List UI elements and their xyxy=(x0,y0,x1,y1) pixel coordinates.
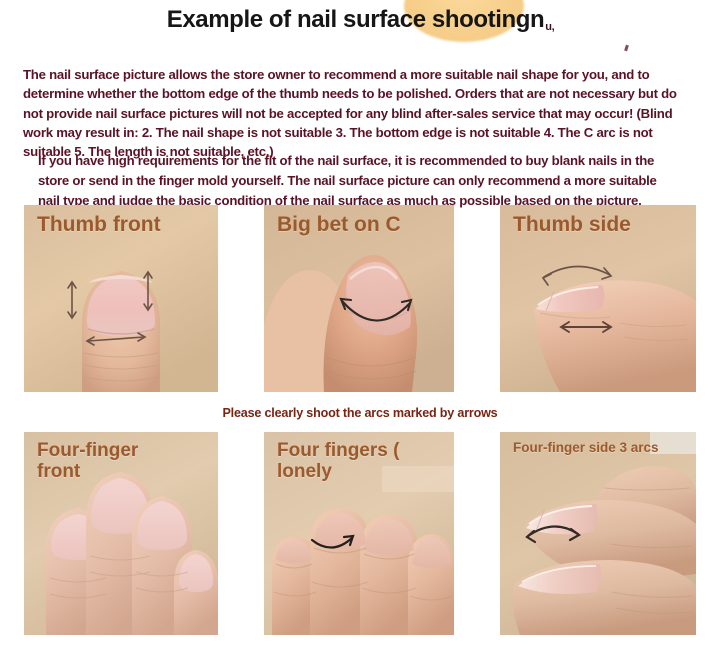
photo-label-big-bet-on-c: Big bet on C xyxy=(277,214,401,237)
page-header: Example of nail surface shootingnu, xyxy=(0,0,720,44)
photo-card-thumb-side[interactable]: Thumb side xyxy=(500,205,696,392)
four-finger-side-3-arcs-photo xyxy=(500,432,696,635)
stray-artifact-mark xyxy=(624,45,629,52)
photo-card-four-fingers-lonely[interactable]: Four fingers ( lonely xyxy=(264,432,454,635)
page-title-text: Example of nail surface shootingn xyxy=(167,6,545,33)
page-title-suffix: u, xyxy=(545,21,554,33)
photo-card-four-finger-front[interactable]: Four-finger front xyxy=(24,432,218,635)
four-finger-photo-row: Four-finger front xyxy=(24,432,696,635)
photo-card-big-bet-on-c[interactable]: Big bet on C xyxy=(264,205,454,392)
thumb-photo-row: Thumb front xyxy=(24,205,696,392)
mid-caption: Please clearly shoot the arcs marked by … xyxy=(0,406,720,420)
photo-label-thumb-front: Thumb front xyxy=(37,214,161,237)
intro-paragraph: The nail surface picture allows the stor… xyxy=(23,65,699,161)
photo-label-four-fingers-lonely: Four fingers ( lonely xyxy=(277,441,399,482)
photo-card-four-finger-side-3-arcs[interactable]: Four-finger side 3 arcs xyxy=(500,432,696,635)
photo-card-thumb-front[interactable]: Thumb front xyxy=(24,205,218,392)
photo-label-four-finger-front: Four-finger front xyxy=(37,441,138,482)
page-title: Example of nail surface shootingnu, xyxy=(0,6,720,34)
photo-label-thumb-side: Thumb side xyxy=(513,214,631,237)
advice-paragraph: If you have high requirements for the fi… xyxy=(38,151,658,211)
photo-label-four-finger-side-3-arcs: Four-finger side 3 arcs xyxy=(513,441,659,456)
